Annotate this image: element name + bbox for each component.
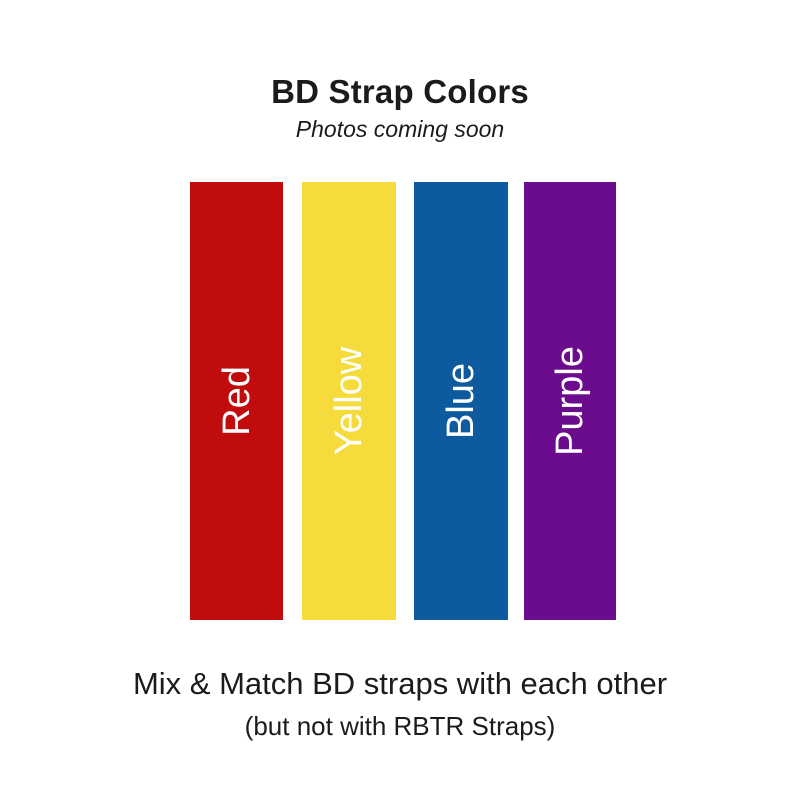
heading-block: BD Strap Colors Photos coming soon [0, 72, 800, 144]
color-swatch-label-red: Red [218, 366, 256, 436]
page-title: BD Strap Colors [0, 72, 800, 112]
color-swatch-yellow: Yellow [302, 182, 396, 620]
color-swatch-label-purple: Purple [551, 346, 589, 456]
color-swatch-purple: Purple [524, 182, 616, 620]
footer-secondary-note: (but not with RBTR Straps) [0, 708, 800, 744]
strap-colors-graphic: BD Strap Colors Photos coming soon Red Y… [0, 0, 800, 800]
color-swatch-label-blue: Blue [442, 363, 480, 439]
color-swatch-red: Red [190, 182, 283, 620]
page-subtitle: Photos coming soon [0, 114, 800, 144]
color-swatch-strip: Red Yellow Blue Purple [190, 182, 616, 620]
color-swatch-label-yellow: Yellow [330, 347, 368, 455]
footer-primary-note: Mix & Match BD straps with each other [0, 664, 800, 704]
color-swatch-blue: Blue [414, 182, 508, 620]
footer-block: Mix & Match BD straps with each other (b… [0, 664, 800, 744]
